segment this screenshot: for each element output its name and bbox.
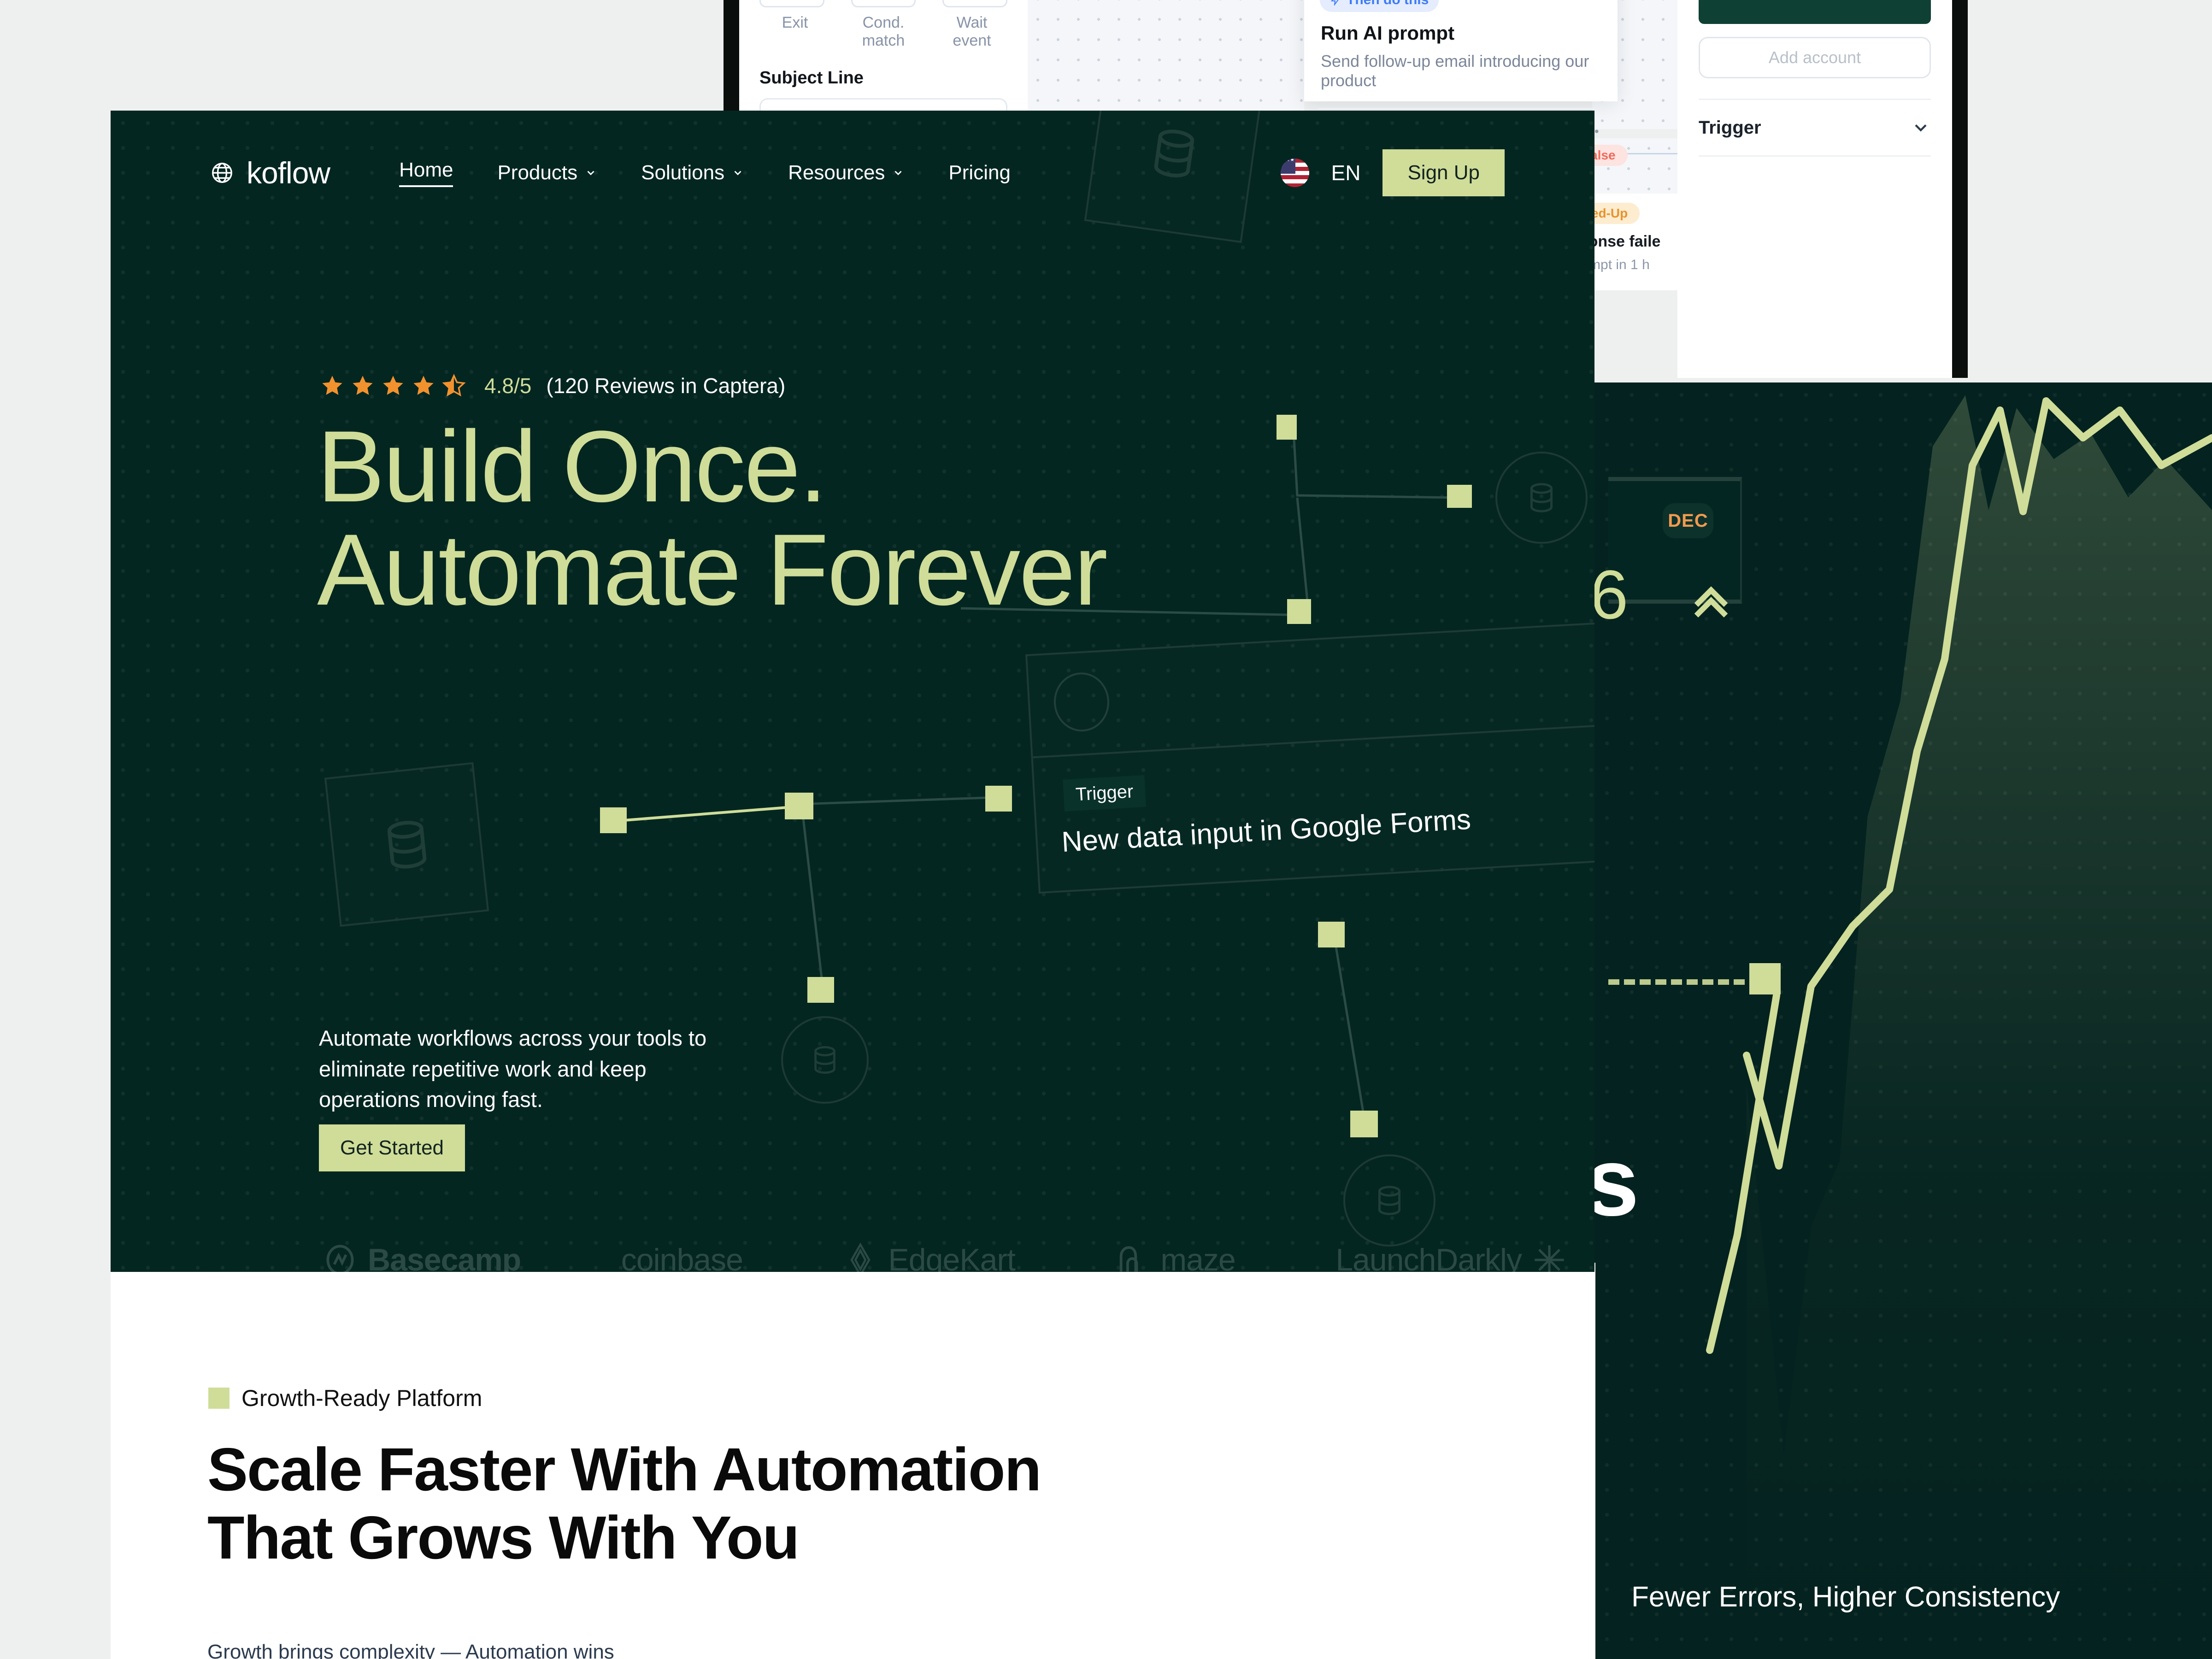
language-label[interactable]: EN <box>1331 160 1361 185</box>
bolt-icon <box>1330 0 1341 6</box>
node-chip[interactable] <box>851 0 916 7</box>
subject-line-label: Subject Line <box>759 68 1007 88</box>
rating-block: 4.8/5 (120 Reviews in Captera) <box>320 373 785 398</box>
workflow-circle-right-top <box>1495 452 1588 544</box>
primary-action-button[interactable] <box>1699 0 1931 24</box>
nav-label: Products <box>497 161 577 184</box>
nav-label: Solutions <box>641 161 724 184</box>
star-icon <box>381 374 405 398</box>
star-rating <box>320 374 466 398</box>
star-icon <box>412 374 435 398</box>
sign-up-button[interactable]: Sign Up <box>1382 149 1505 196</box>
ai-card-title: Run AI prompt <box>1321 22 1618 44</box>
chevron-down-icon <box>585 167 597 179</box>
chart-line-tail <box>1710 995 1777 1350</box>
chart-line-series <box>1747 401 2212 1166</box>
us-flag-icon[interactable] <box>1281 159 1309 187</box>
nav-right-group: EN Sign Up <box>1281 149 1505 196</box>
workflow-node-square <box>1287 599 1311 624</box>
headline-line-1: Build Once. <box>317 410 826 523</box>
top-navigation: koflow Home Products Solutions Resources <box>210 145 1505 200</box>
ai-card-description: Send follow-up email introducing our pro… <box>1321 52 1618 90</box>
rating-score: 4.8/5 <box>484 373 531 398</box>
threshold-dashed-line <box>1608 979 1760 985</box>
eyebrow-square-icon <box>208 1388 229 1409</box>
logo-label: LaunchDarkly <box>1335 1242 1522 1272</box>
workflow-card-left <box>324 762 489 927</box>
section-title-line-2: That Grows With You <box>207 1504 799 1571</box>
nav-item-home[interactable]: Home <box>399 159 453 187</box>
rating-reviews: (120 Reviews in Captera) <box>546 373 785 398</box>
nav-label: Resources <box>788 161 885 184</box>
nav-item-solutions[interactable]: Solutions <box>641 161 744 184</box>
page-left-gutter <box>0 0 111 1659</box>
page-title: Build Once. Automate Forever <box>317 415 1239 622</box>
chip-label-wait: Wait event <box>936 14 1007 50</box>
chevron-down-icon[interactable] <box>1911 118 1931 138</box>
workflow-node-square <box>1350 1111 1378 1137</box>
workflow-node-square <box>600 807 627 833</box>
trigger-card-header <box>1027 620 1594 758</box>
nav-menu: Home Products Solutions Resources Pricin… <box>399 159 1011 187</box>
basecamp-icon <box>323 1242 358 1272</box>
partner-logo-strip: Basecamp coinbase EdgeKart maze LaunchDa… <box>323 1242 1567 1272</box>
december-metric-card: DEC 6 <box>1608 477 1742 604</box>
node-chip[interactable] <box>759 0 824 7</box>
logo-maze: maze <box>1115 1242 1235 1272</box>
node-chip-labels: Exit Cond. match Wait event <box>759 14 1007 50</box>
account-panel-window: Add account Trigger <box>1677 0 1968 378</box>
launchdarkly-star-icon <box>1532 1242 1567 1272</box>
logo-label: coinbase <box>621 1242 743 1272</box>
chip-label-exit: Exit <box>759 14 830 50</box>
workflow-node-square <box>1318 922 1345 947</box>
trigger-badge: Trigger <box>1063 775 1146 812</box>
maze-icon <box>1115 1242 1150 1272</box>
nav-label: Pricing <box>948 161 1011 184</box>
database-icon <box>809 1044 841 1076</box>
chart-caption: Fewer Errors, Higher Consistency <box>1631 1581 2060 1613</box>
sequence-editor-window: Exit Cond. match Wait event Subject Line… <box>724 0 1028 129</box>
section-eyebrow: Growth-Ready Platform <box>208 1385 482 1412</box>
workflow-node-square <box>807 977 834 1003</box>
edgekart-diamond-icon <box>843 1242 878 1272</box>
section-subtitle: Growth brings complexity — Automation wi… <box>207 1641 614 1659</box>
metric-value: 6 <box>1594 555 1628 635</box>
star-icon <box>351 374 375 398</box>
nav-item-products[interactable]: Products <box>497 161 597 184</box>
brand-name: koflow <box>247 155 330 190</box>
run-ai-prompt-card[interactable]: Then do this Run AI prompt Send follow-u… <box>1304 0 1618 101</box>
logo-label: maze <box>1160 1242 1235 1272</box>
hero-section: Trigger New data input in Google Forms k… <box>111 111 1594 1272</box>
get-started-button[interactable]: Get Started <box>319 1124 465 1171</box>
logo-label: Basecamp <box>368 1242 521 1272</box>
logo-basecamp: Basecamp <box>323 1242 521 1272</box>
chip-label-cond: Cond. match <box>848 14 919 50</box>
workflow-node-square <box>1749 963 1781 994</box>
eyebrow-label: Growth-Ready Platform <box>241 1385 482 1412</box>
headline-line-2: Automate Forever <box>317 513 1106 626</box>
logo-edgekart: EdgeKart <box>843 1242 1015 1272</box>
double-chevron-up-icon <box>1686 573 1736 624</box>
workflow-node-square <box>785 793 813 819</box>
database-icon <box>377 814 437 875</box>
chevron-down-icon <box>732 167 744 179</box>
database-icon <box>1372 1183 1406 1218</box>
add-account-button[interactable]: Add account <box>1699 37 1931 78</box>
workflow-node-square <box>1277 415 1297 440</box>
month-badge: DEC <box>1663 503 1713 538</box>
node-chip[interactable] <box>942 0 1007 7</box>
workflow-canvas-dots <box>1028 0 1304 129</box>
database-icon <box>1524 481 1559 515</box>
trigger-row-label: Trigger <box>1699 118 1761 138</box>
trigger-node-card[interactable]: Trigger New data input in Google Forms <box>1025 618 1594 894</box>
globe-icon <box>210 160 235 185</box>
workflow-node-square <box>985 786 1012 812</box>
hero-subtitle: Automate workflows across your tools to … <box>319 1023 724 1115</box>
workflow-circle-bottom <box>1343 1154 1435 1247</box>
nav-item-pricing[interactable]: Pricing <box>948 161 1011 184</box>
star-icon <box>320 374 344 398</box>
section-title: Scale Faster With Automation That Grows … <box>207 1435 1406 1572</box>
chevron-down-icon <box>892 167 904 179</box>
logo-launchdarkly: LaunchDarkly <box>1335 1242 1567 1272</box>
star-half-icon <box>442 374 466 398</box>
avatar <box>1052 671 1111 733</box>
metrics-chart-panel: DEC 6 Fewer Errors, Higher Consistency <box>1594 382 2212 1659</box>
workflow-node-square <box>1447 485 1472 508</box>
logo-label: EdgeKart <box>888 1242 1015 1272</box>
workflow-circle-mid-left <box>781 1016 869 1104</box>
card-divider <box>1318 108 1604 109</box>
node-chip-row <box>759 0 1007 7</box>
section-title-line-1: Scale Faster With Automation <box>207 1435 1041 1503</box>
brand-logo[interactable]: koflow <box>210 155 330 190</box>
nav-item-resources[interactable]: Resources <box>788 161 904 184</box>
then-do-this-label: Then do this <box>1347 0 1429 8</box>
logo-coinbase: coinbase <box>621 1242 743 1272</box>
growth-section: Growth-Ready Platform Scale Faster With … <box>111 1272 1594 1659</box>
nav-label: Home <box>399 159 453 182</box>
trigger-card-text: New data input in Google Forms <box>1061 803 1472 859</box>
trigger-accordion-row[interactable]: Trigger <box>1699 99 1931 157</box>
then-do-this-badge: Then do this <box>1320 0 1439 12</box>
